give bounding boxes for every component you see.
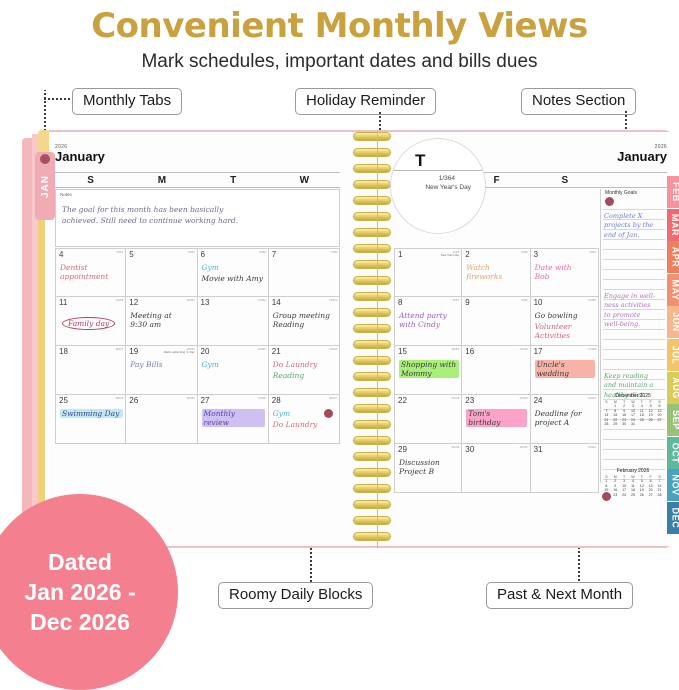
calendar-event[interactable]: Family day — [62, 317, 115, 330]
calendar-event[interactable]: Meeting at 9:30 am — [130, 311, 193, 329]
weekday-header-m-1: M — [126, 175, 197, 186]
callout-monthly-tabs: Monthly Tabs — [72, 88, 182, 115]
goal-rule-line — [603, 449, 665, 450]
magnifier-holiday-name: New Year's Day — [425, 184, 471, 191]
goal-rule-line — [603, 439, 665, 440]
month-tab-label: NOV — [671, 475, 679, 496]
day-cell[interactable]: 1313/352 — [198, 297, 269, 346]
weekday-header-s-2: S — [531, 175, 599, 186]
spiral-coil — [353, 516, 391, 525]
month-tab-jan-label: JAN — [40, 174, 51, 197]
day-index-label: 23/342 — [520, 397, 528, 400]
holiday-magnifier: T 1/364 New Year's Day — [390, 138, 486, 234]
mini-calendar-day[interactable] — [637, 497, 646, 501]
calendar-event[interactable]: Discussion Project B — [399, 458, 459, 476]
spiral-coil — [353, 308, 391, 317]
day-cell[interactable]: 1616/349 — [462, 346, 530, 395]
day-cell[interactable]: 1111/354Family day — [55, 297, 126, 346]
spiral-coil — [353, 388, 391, 397]
mini-calendar-day[interactable] — [611, 497, 620, 501]
day-index-label: 9/356 — [521, 299, 528, 302]
mini-calendar-title: December 2025 — [602, 393, 664, 399]
month-tab-label: DEC — [671, 508, 679, 529]
badge-line-3: Dec 2026 — [30, 607, 130, 637]
magnifier-rule — [391, 170, 486, 171]
goal-rule-line — [603, 209, 665, 210]
calendar-event[interactable]: Tom's birthday — [466, 409, 526, 427]
day-cell[interactable]: 1919/346Martin Luther King, Jr. DayPay B… — [126, 346, 197, 395]
day-number: 13 — [201, 298, 210, 307]
left-weekday-header: SMTW — [55, 172, 340, 188]
day-number: 7 — [272, 250, 276, 259]
mini-calendar-day[interactable] — [655, 497, 664, 501]
day-index-label: 14/351 — [329, 299, 337, 302]
day-index-label: 18/347 — [115, 348, 123, 351]
day-index-label: 15/350 — [451, 348, 459, 351]
goals-marker-dot-icon — [605, 197, 614, 206]
goal-rule-line — [603, 359, 665, 360]
day-index-label: 27/338 — [258, 397, 266, 400]
day-number: 9 — [465, 298, 469, 307]
goal-rule-line — [603, 259, 665, 260]
day-number: 30 — [465, 445, 474, 454]
day-cell[interactable]: 3131/334 — [531, 444, 599, 493]
calendar-event[interactable]: Gym — [202, 263, 265, 272]
day-number: 20 — [201, 347, 210, 356]
day-number: 21 — [272, 347, 281, 356]
spiral-coil — [353, 372, 391, 381]
calendar-event[interactable]: Dentist appointment — [60, 263, 123, 281]
mini-calendar-title: February 2026 — [602, 468, 664, 474]
day-index-label: 12/353 — [187, 299, 195, 302]
day-cell[interactable]: 2525/340Swimming Day — [55, 395, 126, 444]
spiral-coil — [353, 468, 391, 477]
day-number: 31 — [534, 445, 543, 454]
calendar-event[interactable]: Go bowling — [535, 311, 595, 320]
day-cell[interactable]: 2929/336Discussion Project B — [394, 444, 462, 493]
day-cell[interactable]: 2020/345Gym — [198, 346, 269, 395]
goal-rule-line — [603, 279, 665, 280]
spiral-coil — [353, 148, 391, 157]
day-index-label: 26/339 — [187, 397, 195, 400]
goal-rule-line — [603, 429, 665, 430]
day-number: 22 — [398, 396, 407, 405]
calendar-event[interactable]: Movie with Amy — [202, 274, 265, 283]
monthly-goals-section[interactable]: Monthly Goals Complete X projects by the… — [600, 189, 667, 483]
calendar-event[interactable]: Swimming Day — [60, 409, 123, 418]
calendar-event[interactable]: Uncle's wedding — [535, 360, 595, 378]
spiral-coil — [353, 484, 391, 493]
day-cell[interactable]: 2424/341Deadline for project A — [531, 395, 599, 444]
month-tab-label: SEP — [671, 410, 679, 430]
holiday-reminder-label: Martin Luther King, Jr. Day — [137, 351, 194, 354]
day-index-label: 30/335 — [520, 446, 528, 449]
day-cell[interactable]: 2121/344Do LaundryReading — [269, 346, 340, 395]
day-number: 17 — [534, 347, 543, 356]
page-spine-line — [377, 130, 378, 548]
notes-section[interactable]: Notes The goal for this month has been b… — [55, 189, 340, 247]
month-tab-label: MAY — [671, 279, 679, 300]
day-index-label: 22/343 — [451, 397, 459, 400]
day-number: 24 — [534, 396, 543, 405]
mini-calendar-day[interactable] — [646, 422, 655, 426]
day-index-label: 8/357 — [453, 299, 460, 302]
day-cell[interactable]: 2222/343 — [394, 395, 462, 444]
spiral-coil — [353, 196, 391, 205]
mini-calendar-day[interactable] — [655, 422, 664, 426]
day-number: 10 — [534, 298, 543, 307]
day-cell[interactable]: 66/359GymMovie with Amy — [198, 248, 269, 297]
calendar-event[interactable]: Reading — [273, 371, 336, 380]
day-number: 28 — [272, 396, 281, 405]
calendar-event[interactable]: Volunteer Activities — [535, 322, 595, 340]
day-cell[interactable]: 1515/350Shopping with Mommy — [394, 346, 462, 395]
calendar-event[interactable]: Do Laundry — [273, 360, 336, 369]
day-cell[interactable]: 44/361Dentist appointment — [55, 248, 126, 297]
tab-marker-dot-icon — [40, 154, 50, 164]
calendar-event[interactable]: Group meeting Reading — [273, 311, 336, 329]
calendar-event[interactable]: Date with Bob — [535, 263, 595, 281]
weekday-header-w-3: W — [269, 175, 340, 186]
mini-calendar-day[interactable] — [629, 497, 638, 501]
day-number: 15 — [398, 347, 407, 356]
day-cell[interactable]: 1414/351Group meeting Reading — [269, 297, 340, 346]
goal-rule-line — [603, 249, 665, 250]
page-title: Convenient Monthly Views — [0, 6, 679, 46]
day-number: 18 — [59, 347, 68, 356]
day-index-label: 5/360 — [188, 251, 195, 254]
holiday-reminder-label: New Year's Day — [405, 254, 459, 257]
leader-line-monthly-tabs-h — [44, 98, 70, 100]
day-number: 29 — [398, 445, 407, 454]
day-cell[interactable]: 2626/339 — [126, 395, 197, 444]
day-number: 27 — [201, 396, 210, 405]
month-tab-label: APR — [671, 247, 679, 268]
day-index-label: 13/352 — [258, 299, 266, 302]
left-month-label: January — [55, 150, 105, 164]
spiral-coil — [353, 340, 391, 349]
spiral-binding — [353, 132, 393, 548]
month-tab-label: JUN — [671, 312, 679, 332]
callout-roomy-daily-blocks: Roomy Daily Blocks — [218, 582, 373, 609]
goal-rule-line — [603, 369, 665, 370]
day-index-label: 17/348 — [588, 348, 596, 351]
month-tab-label: FEB — [671, 182, 679, 202]
spiral-coil — [353, 420, 391, 429]
day-cell[interactable]: 77/358 — [269, 248, 340, 297]
day-number: 26 — [129, 396, 138, 405]
spiral-coil — [353, 356, 391, 365]
notes-label: Notes — [60, 192, 72, 197]
spiral-coil — [353, 276, 391, 285]
month-tab-label: JUL — [671, 346, 679, 365]
monthly-goal-item[interactable]: Complete X projects by the end of Jan. — [604, 212, 666, 240]
goal-rule-line — [603, 459, 665, 460]
spiral-coil — [353, 244, 391, 253]
day-cell[interactable]: 1717/348Uncle's wedding — [531, 346, 599, 395]
spiral-coil — [353, 532, 391, 541]
goal-rule-line — [603, 289, 665, 290]
day-cell[interactable]: 2727/338Monthly review — [198, 395, 269, 444]
spiral-coil — [353, 164, 391, 173]
mini-calendar-day[interactable] — [620, 497, 629, 501]
spiral-coil — [353, 228, 391, 237]
day-index-label: 3/362 — [589, 251, 596, 254]
day-number: 14 — [272, 298, 281, 307]
mini-calendar-marker-dot-icon — [602, 492, 611, 501]
magnifier-weekday: T — [415, 151, 425, 171]
calendar-event[interactable]: Attend party with Cindy — [399, 311, 459, 329]
day-cell[interactable]: 55/360 — [126, 248, 197, 297]
right-month-label: January — [617, 150, 667, 164]
day-cell[interactable]: 1212/353Meeting at 9:30 am — [126, 297, 197, 346]
day-index-label: 29/336 — [451, 446, 459, 449]
weekday-header-s-0: S — [55, 175, 126, 186]
callout-past-next-month: Past & Next Month — [486, 582, 633, 609]
day-cell[interactable]: 2323/342Tom's birthday — [462, 395, 530, 444]
spiral-coil — [353, 452, 391, 461]
day-number: 4 — [59, 250, 63, 259]
mini-calendar-day[interactable]: 30 — [620, 422, 629, 426]
spiral-coil — [353, 180, 391, 189]
mini-calendar-day[interactable]: 29 — [611, 422, 620, 426]
month-tab-label: AUG — [671, 377, 679, 399]
goal-rule-line — [603, 269, 665, 270]
magnifier-day-index: 1/364 — [439, 175, 455, 182]
day-index-label: 21/344 — [329, 348, 337, 351]
spiral-coil — [353, 132, 391, 141]
goal-rule-line — [603, 349, 665, 350]
spiral-coil — [353, 212, 391, 221]
month-tab-label: MAR — [671, 213, 679, 235]
day-index-label: 6/359 — [259, 251, 266, 254]
day-number: 3 — [534, 250, 538, 259]
day-index-label: 10/355 — [588, 299, 596, 302]
day-cell[interactable]: 99/356 — [462, 297, 530, 346]
mini-calendar-day[interactable] — [637, 422, 646, 426]
day-index-label: 31/334 — [588, 446, 596, 449]
day-cell[interactable]: 11/364New Year's Day — [394, 248, 462, 297]
left-sheet: 2026 January SMTW 44/361Dentist appointm… — [55, 140, 355, 540]
calendar-event[interactable]: Gym — [202, 360, 265, 369]
day-number: 12 — [129, 298, 138, 307]
callout-notes-section: Notes Section — [521, 88, 636, 115]
planner-spread: JAN FEBMARAPRMAYJUNJULAUGSEPOCTNOVDEC 20… — [22, 130, 679, 550]
monthly-goals-title: Monthly Goals — [605, 190, 637, 196]
day-number: 8 — [398, 298, 402, 307]
day-number: 6 — [201, 250, 205, 259]
day-number: 11 — [59, 298, 67, 307]
calendar-event[interactable]: Watch fireworks — [466, 263, 526, 281]
mini-calendar: February 2026SMTWTFS12345678910111213141… — [602, 468, 664, 501]
mini-calendar-day[interactable] — [646, 497, 655, 501]
monthly-goal-item[interactable]: Engage in well- ness activities to promo… — [604, 292, 666, 330]
spiral-coil — [353, 500, 391, 509]
day-index-label: 16/349 — [520, 348, 528, 351]
month-tab-label: OCT — [671, 442, 679, 463]
day-index-label: 20/345 — [258, 348, 266, 351]
event-marker-dot-icon — [324, 409, 333, 418]
mini-calendar-day[interactable]: 28 — [602, 422, 611, 426]
badge-line-1: Dated — [48, 547, 112, 577]
day-index-label: 4/361 — [117, 251, 124, 254]
notes-text: The goal for this month has been basical… — [62, 204, 238, 226]
day-number: 2 — [465, 250, 469, 259]
goal-rule-line — [603, 339, 665, 340]
day-index-label: 2/363 — [521, 251, 528, 254]
day-index-label: 28/337 — [329, 397, 337, 400]
callout-holiday-reminder: Holiday Reminder — [295, 88, 436, 115]
calendar-event[interactable]: Pay Bills — [130, 360, 193, 369]
mini-calendar-day[interactable]: 31 — [629, 422, 638, 426]
page-header: Convenient Monthly Views Mark schedules,… — [0, 0, 679, 76]
calendar-event[interactable]: Deadline for project A — [535, 409, 595, 427]
spiral-coil — [353, 436, 391, 445]
day-cell[interactable]: 1010/355Go bowlingVolunteer Activities — [531, 297, 599, 346]
day-index-label: 7/358 — [331, 251, 338, 254]
mini-calendar: December 2025SMTWTFS12345678910111213141… — [602, 393, 664, 426]
calendar-event[interactable]: Monthly review — [202, 409, 265, 427]
spiral-coil — [353, 260, 391, 269]
day-index-label: 24/341 — [588, 397, 596, 400]
badge-line-2: Jan 2026 - — [24, 577, 135, 607]
day-cell[interactable]: 22/363Watch fireworks — [462, 248, 530, 297]
day-index-label: 11/354 — [116, 299, 124, 302]
day-cell[interactable]: 1818/347 — [55, 346, 126, 395]
weekday-header-t-2: T — [198, 175, 269, 186]
day-index-label: 25/340 — [115, 397, 123, 400]
spiral-coil — [353, 292, 391, 301]
calendar-event[interactable]: Do Laundry — [273, 420, 336, 429]
day-number: 1 — [398, 250, 402, 259]
day-cell[interactable]: 2828/337GymDo Laundry — [269, 395, 340, 444]
day-cell[interactable]: 3030/335 — [462, 444, 530, 493]
day-number: 5 — [129, 250, 133, 259]
day-cell[interactable]: 88/357Attend party with Cindy — [394, 297, 462, 346]
calendar-event[interactable]: Shopping with Mommy — [399, 360, 459, 378]
day-cell[interactable]: 33/362Date with Bob — [531, 248, 599, 297]
day-number: 23 — [465, 396, 474, 405]
day-number: 16 — [465, 347, 474, 356]
spiral-coil — [353, 404, 391, 413]
day-number: 25 — [59, 396, 68, 405]
spiral-coil — [353, 324, 391, 333]
page-subtitle: Mark schedules, important dates and bill… — [0, 50, 679, 74]
